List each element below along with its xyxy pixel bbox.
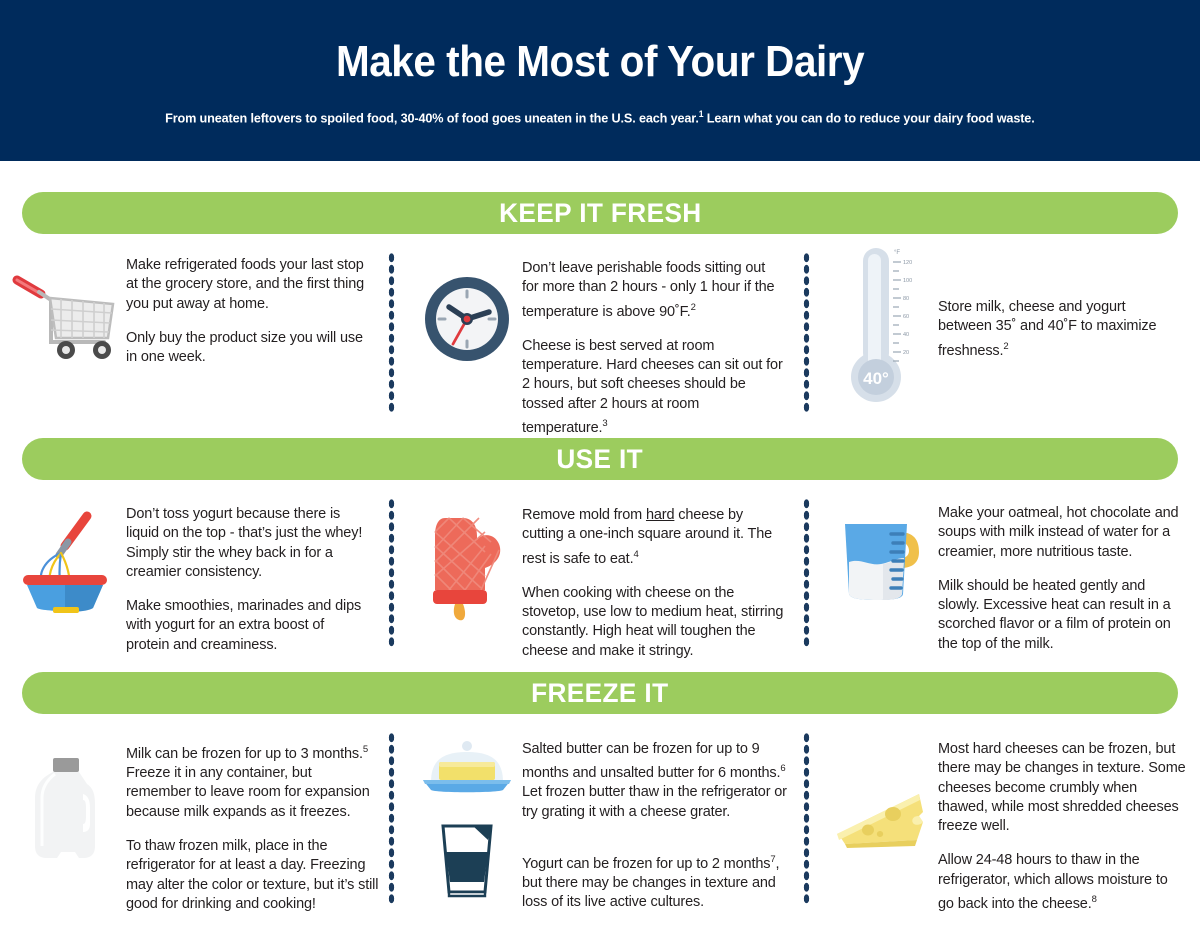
measuring-cup-icon (828, 502, 938, 602)
section-banner-keep-it-fresh: KEEP IT FRESH (22, 192, 1178, 234)
paragraph-text: Yogurt can be frozen for up to 2 months (522, 856, 770, 872)
card-time-limits: Don’t leave perishable foods sitting out… (390, 234, 810, 426)
section-title: USE IT (557, 446, 644, 473)
svg-text:60: 60 (903, 314, 909, 320)
footnote-ref: 6 (780, 763, 785, 774)
card-grocery-shopping: Make refrigerated foods your last stop a… (0, 234, 390, 426)
card-text: Make your oatmeal, hot chocolate and sou… (938, 502, 1200, 654)
paragraph-text-tail: Let frozen butter thaw in the refrigerat… (522, 784, 787, 819)
card-text: Salted butter can be frozen for up to 9 … (522, 736, 810, 913)
subtitle-text-tail: Learn what you can do to reduce your dai… (704, 111, 1035, 126)
page-header: Make the Most of Your Dairy From uneaten… (0, 0, 1200, 161)
footnote-ref: 8 (1092, 894, 1097, 905)
paragraph: Allow 24-48 hours to thaw in the refrige… (938, 851, 1186, 914)
section-title: KEEP IT FRESH (499, 200, 701, 227)
whisk-bowl-icon (4, 502, 126, 613)
paragraph: To thaw frozen milk, place in the refrig… (126, 837, 380, 914)
infographic-page: Make the Most of Your Dairy From uneaten… (0, 0, 1200, 929)
card-freezing-butter-yogurt: Salted butter can be frozen for up to 9 … (390, 714, 810, 924)
milk-jug-icon (4, 736, 126, 866)
card-freezing-milk: Milk can be frozen for up to 3 months.5 … (0, 714, 390, 924)
yogurt-cup-icon (419, 818, 515, 900)
card-text: Remove mold from hard cheese by cutting … (522, 502, 810, 661)
svg-text:°F: °F (894, 250, 900, 256)
subtitle-text-main: From uneaten leftovers to spoiled food, … (165, 111, 699, 126)
section-title: FREEZE IT (531, 680, 668, 707)
card-freezing-cheese: Most hard cheeses can be frozen, but the… (810, 714, 1200, 924)
paragraph: Most hard cheeses can be frozen, but the… (938, 740, 1186, 836)
card-storage-temperature: 40° °F 12010080 604020 (810, 234, 1200, 426)
card-cooking-with-milk: Make your oatmeal, hot chocolate and sou… (810, 480, 1200, 660)
paragraph: Remove mold from hard cheese by cutting … (522, 506, 784, 569)
shopping-cart-icon (4, 256, 126, 360)
paragraph: Make your oatmeal, hot chocolate and sou… (938, 504, 1180, 562)
paragraph: Make smoothies, marinades and dips with … (126, 597, 368, 655)
card-text: Milk can be frozen for up to 3 months.5 … (126, 736, 390, 914)
page-subtitle: From uneaten leftovers to spoiled food, … (165, 109, 1034, 125)
paragraph: Don’t leave perishable foods sitting out… (522, 259, 784, 322)
card-text: Make refrigerated foods your last stop a… (126, 256, 390, 367)
card-cheese-handling: Remove mold from hard cheese by cutting … (390, 480, 810, 660)
clock-icon (412, 256, 522, 367)
paragraph-text: Store milk, cheese and yogurt between 35… (938, 299, 1156, 358)
footnote-ref: 2 (691, 302, 696, 313)
card-text: Store milk, cheese and yogurt between 35… (938, 242, 1200, 361)
card-text: Don’t toss yogurt because there is liqui… (126, 502, 390, 655)
paragraph: Store milk, cheese and yogurt between 35… (938, 298, 1180, 361)
section-freeze-it: FREEZE IT Milk can be frozen for up to 3… (0, 672, 1200, 924)
paragraph: Milk should be heated gently and slowly.… (938, 577, 1180, 654)
paragraph-text: Cheese is best served at room temperatur… (522, 338, 783, 436)
svg-text:80: 80 (903, 296, 909, 302)
card-yogurt-whey: Don’t toss yogurt because there is liqui… (0, 480, 390, 660)
section-use-it: USE IT (0, 438, 1200, 660)
paragraph: Don’t toss yogurt because there is liqui… (126, 505, 368, 582)
paragraph: Milk can be frozen for up to 3 months.5 … (126, 740, 380, 822)
paragraph: Make refrigerated foods your last stop a… (126, 256, 368, 314)
paragraph-text-tail: Freeze it in any container, but remember… (126, 765, 370, 820)
svg-text:40°: 40° (863, 369, 889, 388)
paragraph-text: Milk can be frozen for up to 3 months. (126, 746, 363, 762)
oven-mitt-icon (412, 502, 522, 626)
paragraph-text: Salted butter can be frozen for up to 9 … (522, 741, 780, 781)
card-text: Most hard cheeses can be frozen, but the… (938, 736, 1200, 914)
paragraph: Only buy the product size you will use i… (126, 329, 368, 368)
section-banner-use-it: USE IT (22, 438, 1178, 480)
paragraph-text: Don’t leave perishable foods sitting out… (522, 260, 774, 319)
section-keep-it-fresh: KEEP IT FRESH (0, 192, 1200, 426)
footnote-ref: 4 (633, 549, 638, 560)
butter-and-yogurt-icons (412, 736, 522, 900)
card-text: Don’t leave perishable foods sitting out… (522, 256, 810, 438)
svg-text:120: 120 (903, 260, 912, 266)
cheese-wedge-icon (828, 736, 938, 860)
svg-text:20: 20 (903, 350, 909, 356)
paragraph-text: Allow 24-48 hours to thaw in the refrige… (938, 852, 1168, 911)
thermometer-icon: 40° °F 12010080 604020 (828, 242, 938, 407)
paragraph: Cheese is best served at room temperatur… (522, 337, 784, 438)
paragraph: When cooking with cheese on the stovetop… (522, 584, 784, 661)
footnote-ref: 2 (1003, 341, 1008, 352)
emphasis-hard: hard (646, 507, 674, 523)
paragraph: Salted butter can be frozen for up to 9 … (522, 740, 788, 822)
butter-dish-icon (415, 740, 519, 796)
svg-text:40: 40 (903, 332, 909, 338)
section-banner-freeze-it: FREEZE IT (22, 672, 1178, 714)
paragraph: Yogurt can be frozen for up to 2 months7… (522, 850, 788, 913)
footnote-ref: 3 (602, 418, 607, 429)
footnote-ref: 5 (363, 744, 368, 755)
svg-text:100: 100 (903, 278, 912, 284)
page-title: Make the Most of Your Dairy (336, 39, 864, 85)
